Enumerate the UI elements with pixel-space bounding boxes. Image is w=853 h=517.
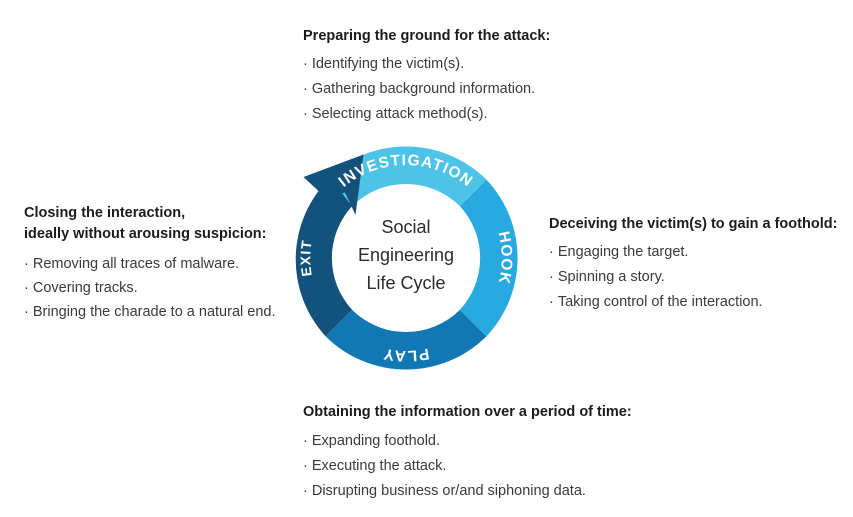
text-block-play: Obtaining the information over a period … xyxy=(303,402,632,504)
list-item-text: Bringing the charade to a natural end. xyxy=(33,304,276,320)
play-bullet-list: ·Expanding foothold. ·Executing the atta… xyxy=(303,429,632,504)
investigation-bullet-list: ·Identifying the victim(s). ·Gathering b… xyxy=(303,52,550,127)
bullet-dot-icon: · xyxy=(549,244,554,260)
play-heading: Obtaining the information over a period … xyxy=(303,402,632,423)
bullet-dot-icon: · xyxy=(303,81,308,97)
list-item: ·Gathering background information. xyxy=(303,77,550,102)
list-item-text: Covering tracks. xyxy=(33,280,138,296)
list-item-text: Disrupting business or/and siphoning dat… xyxy=(312,483,586,499)
list-item: ·Expanding foothold. xyxy=(303,429,632,454)
bullet-dot-icon: · xyxy=(303,56,308,72)
list-item: ·Covering tracks. xyxy=(24,276,276,300)
bullet-dot-icon: · xyxy=(303,483,308,499)
center-title-line-3: Life Cycle xyxy=(366,273,445,293)
investigation-heading: Preparing the ground for the attack: xyxy=(303,26,550,47)
list-item: ·Spinning a story. xyxy=(549,265,837,290)
segment-play[interactable] xyxy=(326,310,487,370)
list-item-text: Gathering background information. xyxy=(312,81,535,97)
list-item: ·Removing all traces of malware. xyxy=(24,252,276,276)
exit-heading-line-2: ideally without arousing suspicion: xyxy=(24,224,276,245)
text-block-investigation: Preparing the ground for the attack: ·Id… xyxy=(303,26,550,127)
bullet-dot-icon: · xyxy=(303,433,308,449)
text-block-exit: Closing the interaction, ideally without… xyxy=(24,203,276,324)
list-item: ·Executing the attack. xyxy=(303,454,632,479)
social-engineering-life-cycle-diagram: INVESTIGATION HOOK PLAY EXIT Social Engi… xyxy=(279,133,533,383)
exit-bullet-list: ·Removing all traces of malware. ·Coveri… xyxy=(24,252,276,324)
hook-heading: Deceiving the victim(s) to gain a footho… xyxy=(549,214,837,235)
bullet-dot-icon: · xyxy=(303,106,308,122)
bullet-dot-icon: · xyxy=(24,280,29,296)
segment-hook[interactable] xyxy=(460,180,518,337)
list-item-text: Expanding foothold. xyxy=(312,433,440,449)
exit-heading-line-1: Closing the interaction, xyxy=(24,203,276,224)
list-item: ·Bringing the charade to a natural end. xyxy=(24,300,276,324)
list-item: ·Taking control of the interaction. xyxy=(549,290,837,315)
hook-bullet-list: ·Engaging the target. ·Spinning a story.… xyxy=(549,240,837,315)
list-item: ·Engaging the target. xyxy=(549,240,837,265)
exit-label-text: EXIT xyxy=(297,239,315,278)
list-item: ·Disrupting business or/and siphoning da… xyxy=(303,479,632,504)
list-item-text: Taking control of the interaction. xyxy=(558,294,763,310)
list-item: ·Selecting attack method(s). xyxy=(303,102,550,127)
list-item-text: Engaging the target. xyxy=(558,244,689,260)
list-item: ·Identifying the victim(s). xyxy=(303,52,550,77)
segment-label-exit: EXIT xyxy=(297,239,315,278)
center-title-line-2: Engineering xyxy=(358,245,454,265)
text-block-hook: Deceiving the victim(s) to gain a footho… xyxy=(549,214,837,315)
bullet-dot-icon: · xyxy=(549,294,554,310)
list-item-text: Executing the attack. xyxy=(312,458,447,474)
list-item-text: Identifying the victim(s). xyxy=(312,56,464,72)
list-item-text: Spinning a story. xyxy=(558,269,665,285)
center-title-line-1: Social xyxy=(381,217,430,237)
bullet-dot-icon: · xyxy=(24,256,29,272)
list-item-text: Removing all traces of malware. xyxy=(33,256,239,272)
bullet-dot-icon: · xyxy=(303,458,308,474)
list-item-text: Selecting attack method(s). xyxy=(312,106,488,122)
bullet-dot-icon: · xyxy=(24,304,29,320)
bullet-dot-icon: · xyxy=(549,269,554,285)
